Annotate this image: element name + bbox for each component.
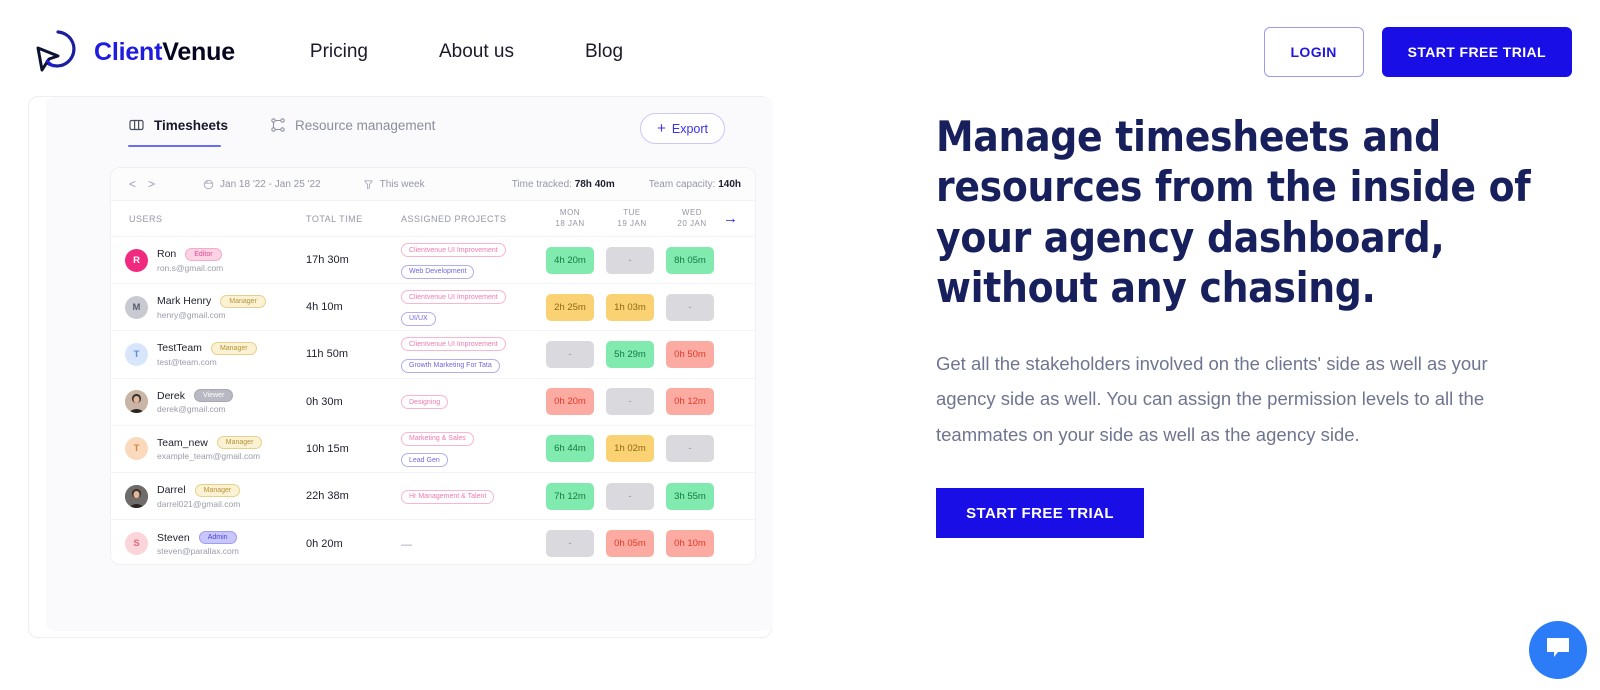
tab-timesheets-label: Timesheets (154, 118, 228, 133)
user-name-row: Team_newManager (157, 436, 262, 449)
user-cell: DarrelManagerdarrel021@gmail.com (125, 484, 240, 509)
user-email: henry@gmail.com (157, 310, 266, 320)
user-meta: RonEditorron.s@gmail.com (157, 248, 223, 273)
prev-week-button[interactable]: < (129, 178, 136, 190)
column-header-day-0: MON 18 JAN (541, 208, 599, 230)
table-row[interactable]: TTestTeamManagertest@team.com11h 50mClie… (111, 331, 755, 378)
project-tag[interactable]: Lead Gen (401, 453, 448, 467)
avatar: M (125, 296, 148, 319)
user-name-row: RonEditor (157, 248, 223, 261)
day-time-cell[interactable]: 7h 12m (546, 483, 594, 510)
assigned-projects-cell: Clientvenue UI ImprovementGrowth Marketi… (401, 333, 536, 376)
start-free-trial-header-button[interactable]: START FREE TRIAL (1382, 27, 1572, 77)
user-cell: TTestTeamManagertest@team.com (125, 342, 257, 367)
project-tag[interactable]: UI/UX (401, 312, 436, 326)
total-time-cell: 11h 50m (306, 348, 396, 360)
export-button-label: Export (672, 122, 708, 136)
user-cell: MMark HenryManagerhenry@gmail.com (125, 295, 266, 320)
page-title: Manage timesheets and resources from the… (936, 112, 1556, 314)
panel-stats: Time tracked: 78h 40m Team capacity: 140… (478, 179, 741, 190)
user-cell: RRonEditorron.s@gmail.com (125, 248, 223, 273)
role-badge: Manager (220, 295, 266, 308)
day-time-cell[interactable]: - (606, 483, 654, 510)
user-name: Team_new (157, 437, 208, 449)
total-time-cell: 17h 30m (306, 254, 396, 266)
column-header-users: USERS (129, 214, 163, 224)
column-header-day-2-date: 20 JAN (663, 219, 721, 230)
user-cell: SStevenAdminsteven@parallax.com (125, 531, 239, 556)
user-name-row: TestTeamManager (157, 342, 257, 355)
table-row[interactable]: RRonEditorron.s@gmail.com17h 30mClientve… (111, 237, 755, 284)
assigned-projects-cell: Hr Management & Talent (401, 485, 536, 507)
day-time-cell[interactable]: 2h 25m (546, 294, 594, 321)
dashboard-mockup-frame: Timesheets Resource management (28, 96, 772, 638)
user-meta: TestTeamManagertest@team.com (157, 342, 257, 367)
team-capacity-label: Team capacity: (649, 179, 716, 190)
day-time-cell[interactable]: - (666, 294, 714, 321)
project-tag[interactable]: Marketing & Sales (401, 432, 474, 446)
table-row[interactable]: DerekViewerderek@gmail.com0h 30mDesignin… (111, 379, 755, 426)
calendar-icon (203, 179, 214, 190)
hero-description: Get all the stakeholders involved on the… (936, 346, 1536, 453)
brand-name: ClientVenue (94, 38, 235, 67)
user-email: test@team.com (157, 357, 257, 367)
start-free-trial-main-button[interactable]: START FREE TRIAL (936, 488, 1144, 538)
user-name: Steven (157, 532, 190, 544)
login-button[interactable]: LOGIN (1264, 27, 1364, 77)
assigned-projects-cell: Designing (401, 391, 536, 413)
active-tab-underline (128, 145, 221, 147)
column-header-total-time: TOTAL TIME (306, 214, 363, 224)
timesheet-rows: RRonEditorron.s@gmail.com17h 30mClientve… (111, 237, 755, 565)
day-time-cell[interactable]: 0h 10m (666, 530, 714, 557)
day-time-cell[interactable]: 0h 20m (546, 388, 594, 415)
week-filter-label: This week (380, 179, 425, 190)
total-time-cell: 22h 38m (306, 490, 396, 502)
user-name: Derek (157, 390, 185, 402)
user-meta: DarrelManagerdarrel021@gmail.com (157, 484, 240, 509)
total-time-cell: 4h 10m (306, 301, 396, 313)
user-email: steven@parallax.com (157, 546, 239, 556)
nav-item-pricing[interactable]: Pricing (310, 41, 368, 63)
avatar: T (125, 437, 148, 460)
role-badge: Manager (217, 436, 263, 449)
assigned-projects-cell: — (401, 535, 536, 553)
day-time-cell[interactable]: - (546, 341, 594, 368)
team-capacity-stat: Team capacity: 140h (649, 179, 741, 190)
cursor-in-circle-logo-icon (28, 26, 78, 78)
export-button[interactable]: + Export (640, 113, 725, 144)
timesheet-icon (129, 117, 145, 133)
project-tag[interactable]: Designing (401, 395, 448, 409)
team-capacity-value: 140h (718, 179, 741, 190)
brand[interactable]: ClientVenue (28, 26, 235, 78)
table-row[interactable]: MMark HenryManagerhenry@gmail.com4h 10mC… (111, 284, 755, 331)
day-time-cell[interactable]: 3h 55m (666, 483, 714, 510)
site-header: ClientVenue Pricing About us Blog LOGIN … (0, 0, 1600, 104)
brand-name-second: Venue (162, 38, 235, 66)
week-filter[interactable]: This week (363, 179, 425, 190)
user-name: TestTeam (157, 342, 202, 354)
user-name: Darrel (157, 484, 186, 496)
day-time-cell[interactable]: 0h 05m (606, 530, 654, 557)
chat-widget-button[interactable] (1529, 621, 1587, 679)
filter-icon (363, 179, 374, 190)
role-badge: Manager (211, 342, 257, 355)
role-badge: Viewer (194, 389, 233, 402)
plus-icon: + (657, 121, 666, 136)
assigned-projects-cell: Clientvenue UI ImprovementWeb Developmen… (401, 239, 536, 282)
avatar: S (125, 532, 148, 555)
total-time-cell: 0h 30m (306, 396, 396, 408)
project-tag[interactable]: Clientvenue UI Improvement (401, 337, 506, 351)
role-badge: Editor (185, 248, 221, 261)
table-row[interactable]: DarrelManagerdarrel021@gmail.com22h 38mH… (111, 473, 755, 520)
total-time-cell: 10h 15m (306, 443, 396, 455)
timesheet-panel: < > Jan 18 '22 - Jan 25 '22 (110, 167, 756, 565)
week-nav: < > (129, 178, 155, 190)
assigned-projects-cell: Clientvenue UI ImprovementUI/UX (401, 286, 536, 329)
day-time-cell[interactable]: 0h 50m (666, 341, 714, 368)
column-header-day-1-dow: TUE (603, 208, 661, 219)
user-name: Mark Henry (157, 295, 211, 307)
dashboard-mockup: Timesheets Resource management (46, 97, 773, 631)
date-range-picker[interactable]: Jan 18 '22 - Jan 25 '22 (203, 179, 321, 190)
time-tracked-label: Time tracked: (512, 179, 572, 190)
next-days-arrow-icon[interactable]: → (723, 210, 738, 227)
day-time-cell[interactable]: 8h 05m (666, 247, 714, 274)
avatar: R (125, 249, 148, 272)
avatar (125, 485, 148, 508)
role-badge: Admin (199, 531, 237, 544)
project-tag[interactable]: Clientvenue UI Improvement (401, 290, 506, 304)
project-tag[interactable]: Hr Management & Talent (401, 490, 494, 504)
column-header-day-1-date: 19 JAN (603, 219, 661, 230)
user-meta: StevenAdminsteven@parallax.com (157, 531, 239, 556)
user-meta: DerekViewerderek@gmail.com (157, 389, 233, 414)
header-actions: LOGIN START FREE TRIAL (1264, 27, 1572, 77)
day-time-cell[interactable]: 4h 20m (546, 247, 594, 274)
day-time-cell[interactable]: - (606, 247, 654, 274)
avatar (125, 390, 148, 413)
nav-item-about-us[interactable]: About us (439, 41, 514, 63)
column-header-day-2: WED 20 JAN (663, 208, 721, 230)
dashboard-tabs: Timesheets Resource management (129, 117, 435, 133)
day-time-cell[interactable]: 5h 29m (606, 341, 654, 368)
user-name-row: Mark HenryManager (157, 295, 266, 308)
chat-bubble-icon (1545, 636, 1571, 665)
column-header-day-1: TUE 19 JAN (603, 208, 661, 230)
user-cell: DerekViewerderek@gmail.com (125, 389, 233, 414)
tab-resource-management[interactable]: Resource management (270, 117, 435, 133)
column-header-assigned-projects: ASSIGNED PROJECTS (401, 214, 507, 224)
user-cell: TTeam_newManagerexample_team@gmail.com (125, 436, 262, 461)
day-time-cell[interactable]: - (666, 435, 714, 462)
day-time-cell[interactable]: - (606, 388, 654, 415)
assigned-projects-empty: — (401, 539, 412, 551)
date-range-label: Jan 18 '22 - Jan 25 '22 (220, 179, 321, 190)
day-time-cell[interactable]: 1h 02m (606, 435, 654, 462)
role-badge: Manager (195, 484, 241, 497)
avatar: T (125, 343, 148, 366)
user-email: ron.s@gmail.com (157, 263, 223, 273)
project-tag[interactable]: Clientvenue UI Improvement (401, 243, 506, 257)
time-tracked-stat: Time tracked: 78h 40m (512, 179, 615, 190)
table-row[interactable]: SStevenAdminsteven@parallax.com0h 20m—-0… (111, 520, 755, 565)
day-time-cell[interactable]: 6h 44m (546, 435, 594, 462)
panel-toolbar: < > Jan 18 '22 - Jan 25 '22 (111, 168, 755, 201)
user-email: example_team@gmail.com (157, 451, 262, 461)
user-name-row: DarrelManager (157, 484, 240, 497)
next-week-button[interactable]: > (148, 178, 155, 190)
user-meta: Mark HenryManagerhenry@gmail.com (157, 295, 266, 320)
column-header-day-0-dow: MON (541, 208, 599, 219)
page-root: ClientVenue Pricing About us Blog LOGIN … (0, 0, 1600, 690)
user-email: derek@gmail.com (157, 404, 233, 414)
user-name: Ron (157, 248, 176, 260)
time-tracked-value: 78h 40m (575, 179, 615, 190)
day-time-cell[interactable]: - (546, 530, 594, 557)
user-email: darrel021@gmail.com (157, 499, 240, 509)
table-row[interactable]: TTeam_newManagerexample_team@gmail.com10… (111, 426, 755, 473)
column-header-day-0-date: 18 JAN (541, 219, 599, 230)
day-time-cell[interactable]: 1h 03m (606, 294, 654, 321)
resource-nodes-icon (270, 117, 286, 133)
column-header-day-2-dow: WED (663, 208, 721, 219)
main-nav: Pricing About us Blog (310, 41, 623, 63)
nav-item-blog[interactable]: Blog (585, 41, 623, 63)
assigned-projects-cell: Marketing & SalesLead Gen (401, 427, 536, 470)
tab-timesheets[interactable]: Timesheets (129, 117, 228, 133)
tab-resource-management-label: Resource management (295, 118, 435, 133)
user-name-row: DerekViewer (157, 389, 233, 402)
project-tag[interactable]: Growth Marketing For Tata (401, 359, 500, 373)
user-name-row: StevenAdmin (157, 531, 239, 544)
day-time-cell[interactable]: 0h 12m (666, 388, 714, 415)
total-time-cell: 0h 20m (306, 538, 396, 550)
project-tag[interactable]: Web Development (401, 265, 474, 279)
hero-copy: Manage timesheets and resources from the… (936, 112, 1556, 538)
user-meta: Team_newManagerexample_team@gmail.com (157, 436, 262, 461)
table-header: USERS TOTAL TIME ASSIGNED PROJECTS MON 1… (111, 201, 755, 237)
brand-name-first: Client (94, 38, 162, 66)
